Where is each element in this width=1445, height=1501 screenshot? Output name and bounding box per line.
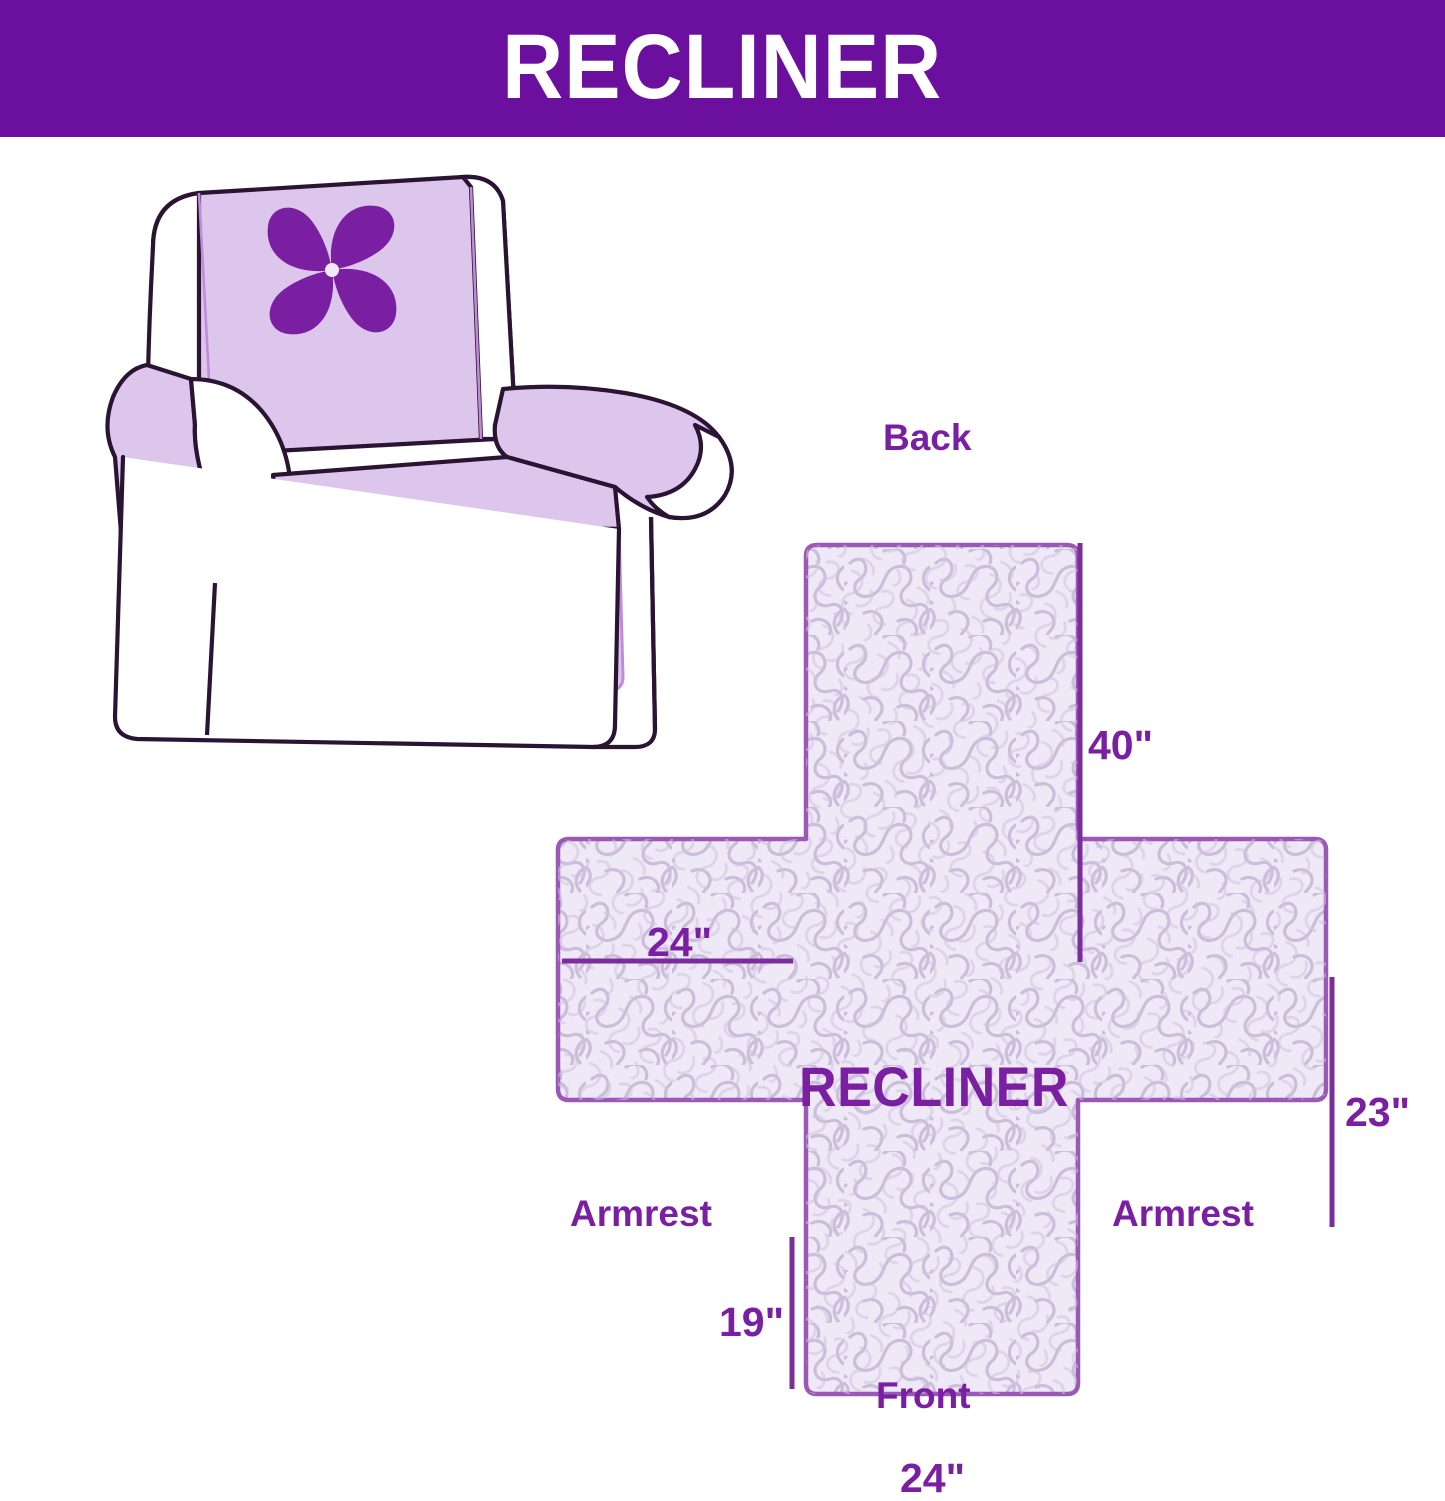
diagram-stage: Back Front Armrest Armrest RECLINER 40" … — [0, 137, 1445, 1445]
pattern-center-label: RECLINER — [799, 1059, 1069, 1115]
cross-texture-overlay — [558, 545, 1326, 1394]
dimension-label-front-width: 24" — [900, 1458, 965, 1499]
dimension-label-front-height: 19" — [719, 1302, 784, 1343]
dimension-label-back-height: 40" — [1088, 725, 1153, 766]
dimension-label-back-width: 24" — [647, 922, 712, 963]
panel-label-front: Front — [876, 1377, 971, 1414]
panel-label-back: Back — [883, 419, 971, 456]
cover-pattern-diagram: Back Front Armrest Armrest RECLINER 40" … — [500, 377, 1445, 1407]
header-banner: RECLINER — [0, 0, 1445, 137]
panel-label-armrest-right: Armrest — [1112, 1195, 1254, 1232]
dimension-label-armrest-depth: 23" — [1345, 1092, 1410, 1133]
panel-label-armrest-left: Armrest — [570, 1195, 712, 1232]
page-title: RECLINER — [503, 21, 943, 113]
cross-pattern-svg — [500, 377, 1445, 1407]
